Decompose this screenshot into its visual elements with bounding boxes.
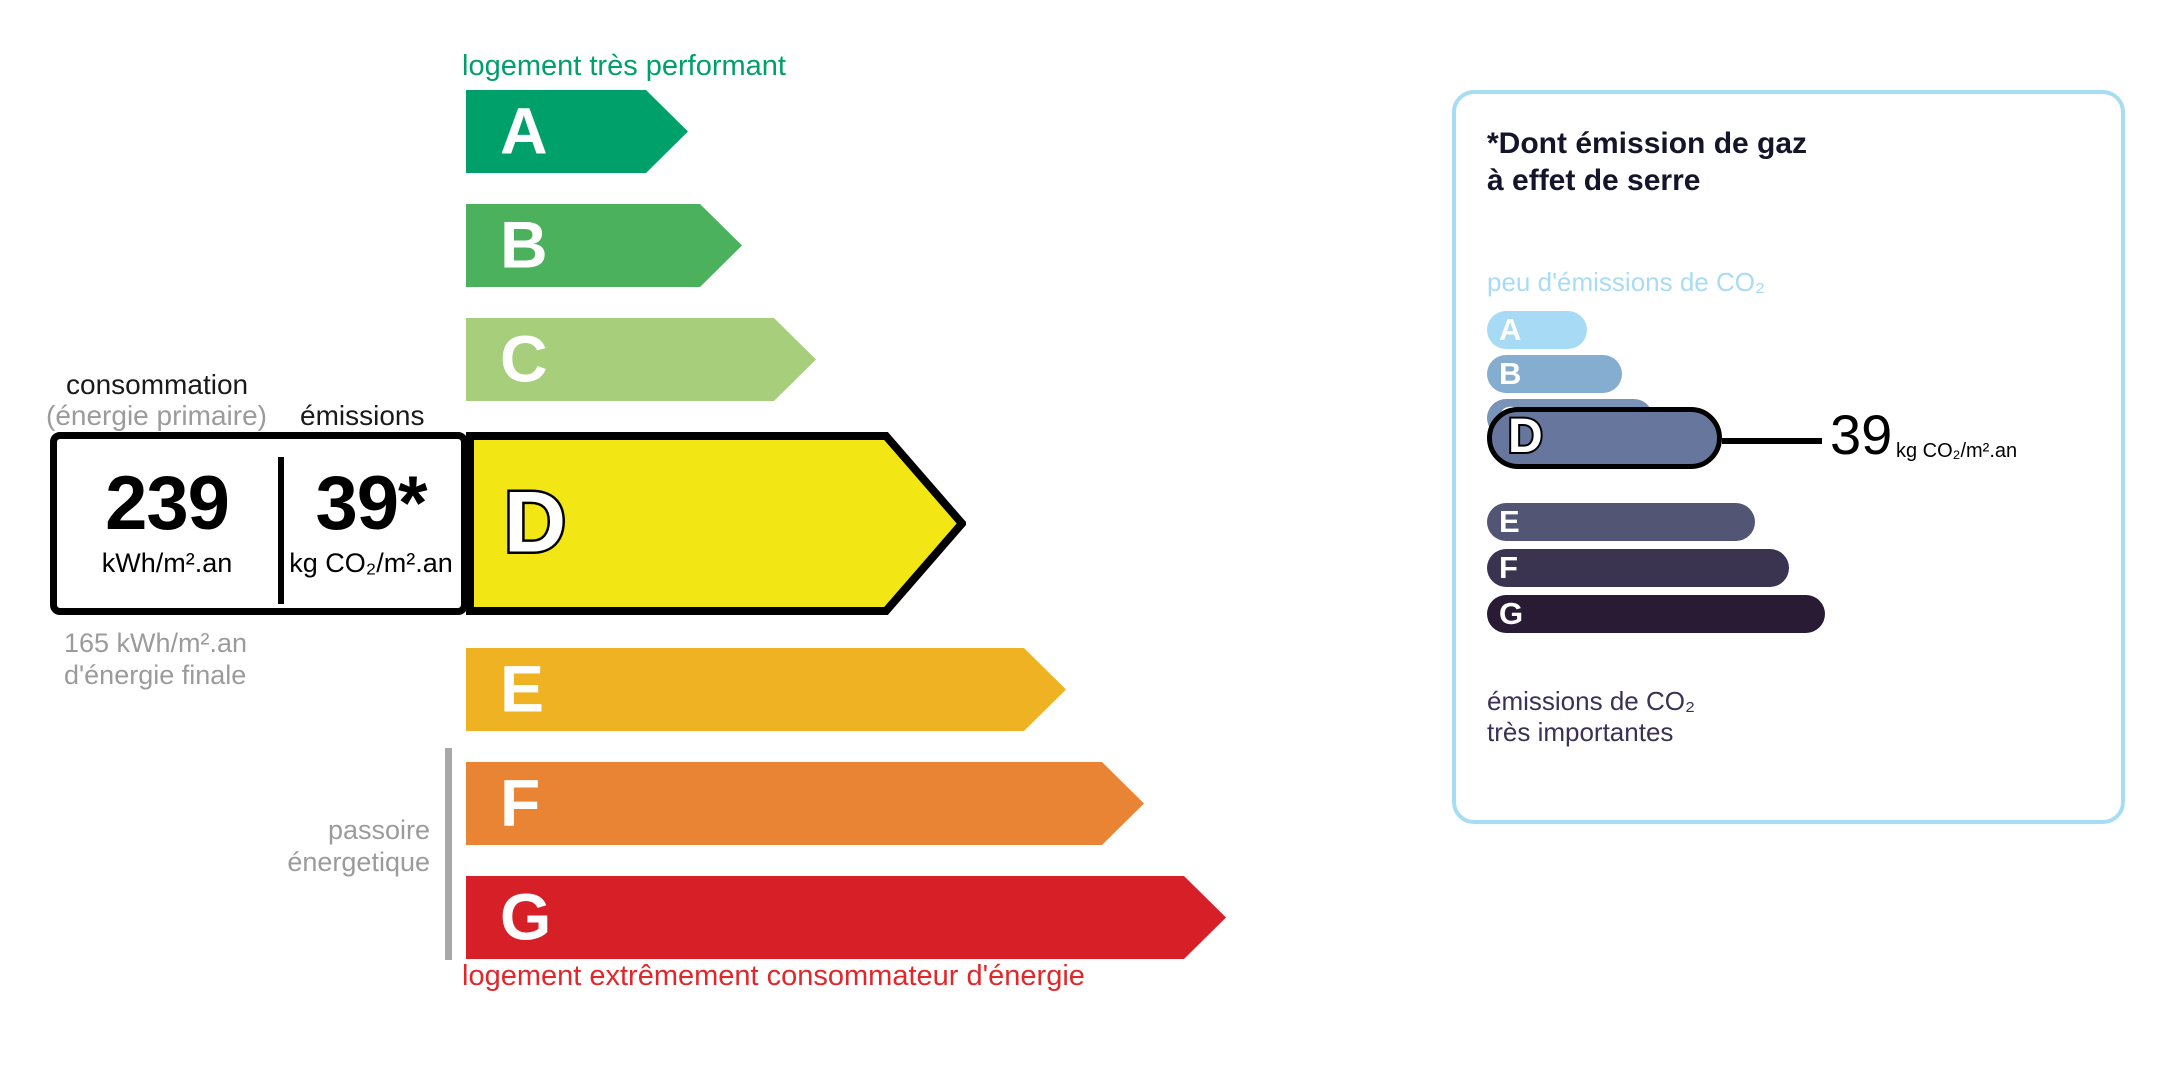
energy-class-row-d-selected[interactable]: D bbox=[466, 432, 966, 615]
passoire-line1: passoire bbox=[250, 815, 430, 847]
co2-bottom-caption: émissions de CO₂ très importantes bbox=[1487, 686, 1695, 747]
energy-bottom-caption: logement extrêmement consommateur d'éner… bbox=[462, 960, 1085, 993]
co2-panel-title: *Dont émission de gaz à effet de serre bbox=[1487, 126, 1807, 199]
co2-callout-value: 39 bbox=[1830, 407, 1892, 463]
energy-class-letter-d: D bbox=[504, 479, 566, 565]
passoire-line2: énergetique bbox=[250, 847, 430, 879]
energy-performance-diagram: logement très performant A B C bbox=[0, 0, 1380, 1079]
co2-bar-f: F bbox=[1487, 549, 1789, 587]
energy-class-row-e[interactable]: E bbox=[466, 648, 1066, 731]
label-consommation: consommation bbox=[66, 369, 248, 401]
final-energy-value: 165 kWh/m².an bbox=[64, 628, 247, 660]
co2-bar-a: A bbox=[1487, 311, 1587, 349]
co2-class-letter-f: F bbox=[1499, 552, 1518, 583]
co2-callout-leader-line bbox=[1722, 438, 1822, 444]
energy-class-row-a[interactable]: A bbox=[466, 90, 688, 173]
co2-class-letter-d: D bbox=[1508, 413, 1543, 461]
energy-class-letter-g: G bbox=[500, 883, 551, 949]
emission-value-cell: 39* kg CO₂/m².an bbox=[279, 439, 463, 608]
energy-arrow-b: B bbox=[466, 204, 742, 287]
consumption-unit: kWh/m².an bbox=[102, 548, 233, 579]
co2-bar-d: D bbox=[1487, 407, 1722, 469]
co2-class-letter-a: A bbox=[1499, 314, 1521, 345]
co2-class-row-f[interactable]: F bbox=[1487, 549, 1789, 587]
energy-class-letter-b: B bbox=[500, 211, 548, 277]
consumption-value-cell: 239 kWh/m².an bbox=[57, 439, 277, 608]
passoire-label: passoire énergetique bbox=[250, 815, 430, 879]
energy-top-caption: logement très performant bbox=[462, 50, 786, 83]
energy-arrow-g: G bbox=[466, 876, 1226, 959]
energy-class-letter-c: C bbox=[500, 325, 548, 391]
energy-class-letter-a: A bbox=[500, 97, 548, 163]
label-energie-primaire: (énergie primaire) bbox=[46, 400, 267, 432]
co2-class-row-d-selected[interactable]: D bbox=[1487, 407, 1722, 469]
co2-class-letter-e: E bbox=[1499, 506, 1520, 537]
label-emissions: émissions bbox=[300, 400, 424, 432]
co2-bar-g: G bbox=[1487, 595, 1825, 633]
co2-class-letter-b: B bbox=[1499, 358, 1521, 389]
co2-bottom-line2: très importantes bbox=[1487, 717, 1695, 748]
co2-bar-e: E bbox=[1487, 503, 1755, 541]
co2-callout-unit: kg CO₂/m².an bbox=[1896, 440, 2017, 463]
energy-arrow-e: E bbox=[466, 648, 1066, 731]
consumption-value: 239 bbox=[105, 468, 229, 540]
co2-bar-b: B bbox=[1487, 355, 1622, 393]
co2-class-row-g[interactable]: G bbox=[1487, 595, 1825, 633]
energy-arrow-c: C bbox=[466, 318, 816, 401]
energy-arrow-d: D bbox=[466, 432, 966, 615]
energy-arrow-f: F bbox=[466, 762, 1144, 845]
energy-class-row-g[interactable]: G bbox=[466, 876, 1226, 959]
co2-bottom-line1: émissions de CO₂ bbox=[1487, 686, 1695, 717]
energy-arrow-a: A bbox=[466, 90, 688, 173]
passoire-bracket bbox=[445, 748, 452, 960]
co2-title-line2: à effet de serre bbox=[1487, 163, 1807, 200]
energy-class-letter-f: F bbox=[500, 769, 540, 835]
co2-emissions-panel: *Dont émission de gaz à effet de serre p… bbox=[1452, 90, 2125, 824]
co2-class-row-a[interactable]: A bbox=[1487, 311, 1587, 349]
co2-class-letter-g: G bbox=[1499, 598, 1523, 629]
co2-top-caption: peu d'émissions de CO₂ bbox=[1487, 267, 1765, 298]
co2-class-row-e[interactable]: E bbox=[1487, 503, 1755, 541]
energy-class-row-c[interactable]: C bbox=[466, 318, 816, 401]
energy-class-letter-e: E bbox=[500, 655, 544, 721]
energy-class-row-b[interactable]: B bbox=[466, 204, 742, 287]
emission-value: 39* bbox=[315, 468, 426, 540]
final-energy-note: 165 kWh/m².an d'énergie finale bbox=[64, 628, 247, 692]
final-energy-label: d'énergie finale bbox=[64, 660, 247, 692]
co2-title-line1: *Dont émission de gaz bbox=[1487, 126, 1807, 163]
energy-values-box: 239 kWh/m².an 39* kg CO₂/m².an bbox=[50, 432, 468, 615]
energy-class-row-f[interactable]: F bbox=[466, 762, 1144, 845]
co2-class-row-b[interactable]: B bbox=[1487, 355, 1622, 393]
emission-unit: kg CO₂/m².an bbox=[289, 548, 453, 579]
